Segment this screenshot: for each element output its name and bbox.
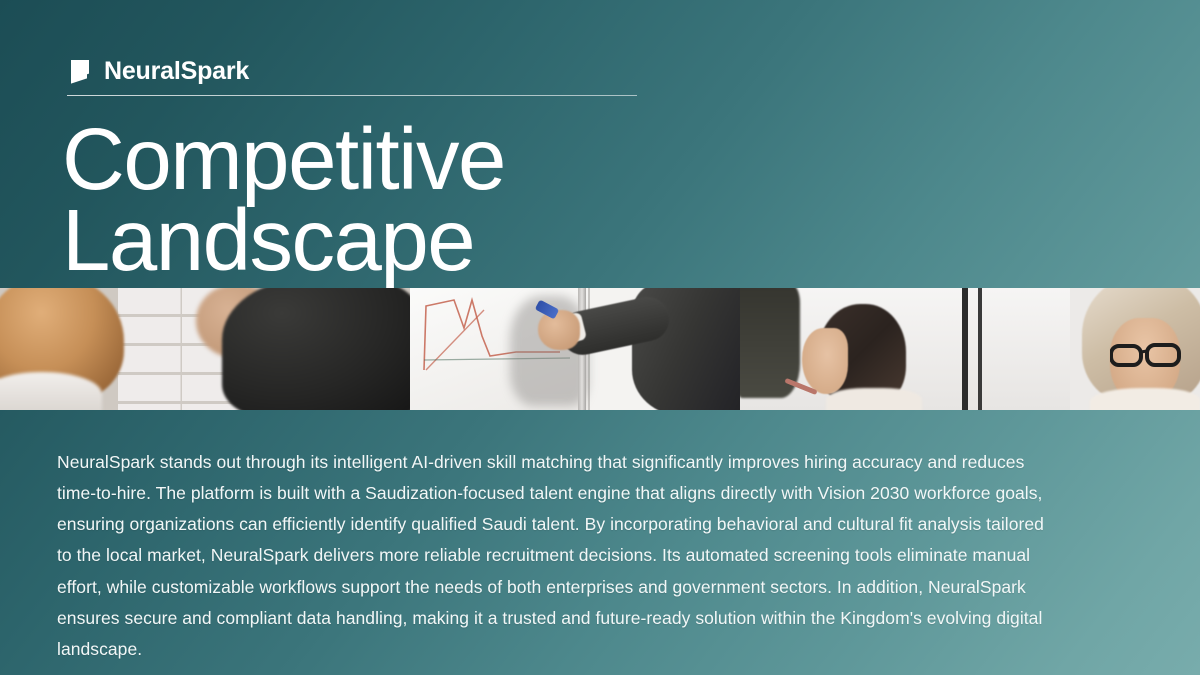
light-sweater xyxy=(826,388,922,410)
listening-woman-face xyxy=(802,328,848,394)
window-mullion xyxy=(962,288,968,410)
header-divider xyxy=(67,95,637,96)
photo-strip xyxy=(0,288,1200,410)
brand-logo[interactable]: NeuralSpark xyxy=(67,52,249,90)
body-paragraph: NeuralSpark stands out through its intel… xyxy=(57,447,1057,665)
brand-name: NeuralSpark xyxy=(104,59,249,84)
presenter-hand xyxy=(538,310,580,350)
neuralspark-layered-mark-icon xyxy=(67,57,93,85)
photo-pane-presenter-at-whiteboard-with-chart xyxy=(410,288,740,410)
photo-pane-blonde-colleague-and-brick-wall xyxy=(0,288,410,410)
photo-pane-seated-woman-listening xyxy=(740,288,1070,410)
window-mullion-secondary xyxy=(978,288,982,410)
eyeglasses-icon xyxy=(1110,342,1186,368)
white-blouse-collar xyxy=(1090,388,1200,410)
dark-jacket-figure xyxy=(222,288,410,410)
page-title: Competitive Landscape xyxy=(62,120,682,282)
slide-root: NeuralSpark Competitive Landscape xyxy=(0,0,1200,675)
photo-pane-woman-with-glasses-taking-notes xyxy=(1070,288,1200,410)
